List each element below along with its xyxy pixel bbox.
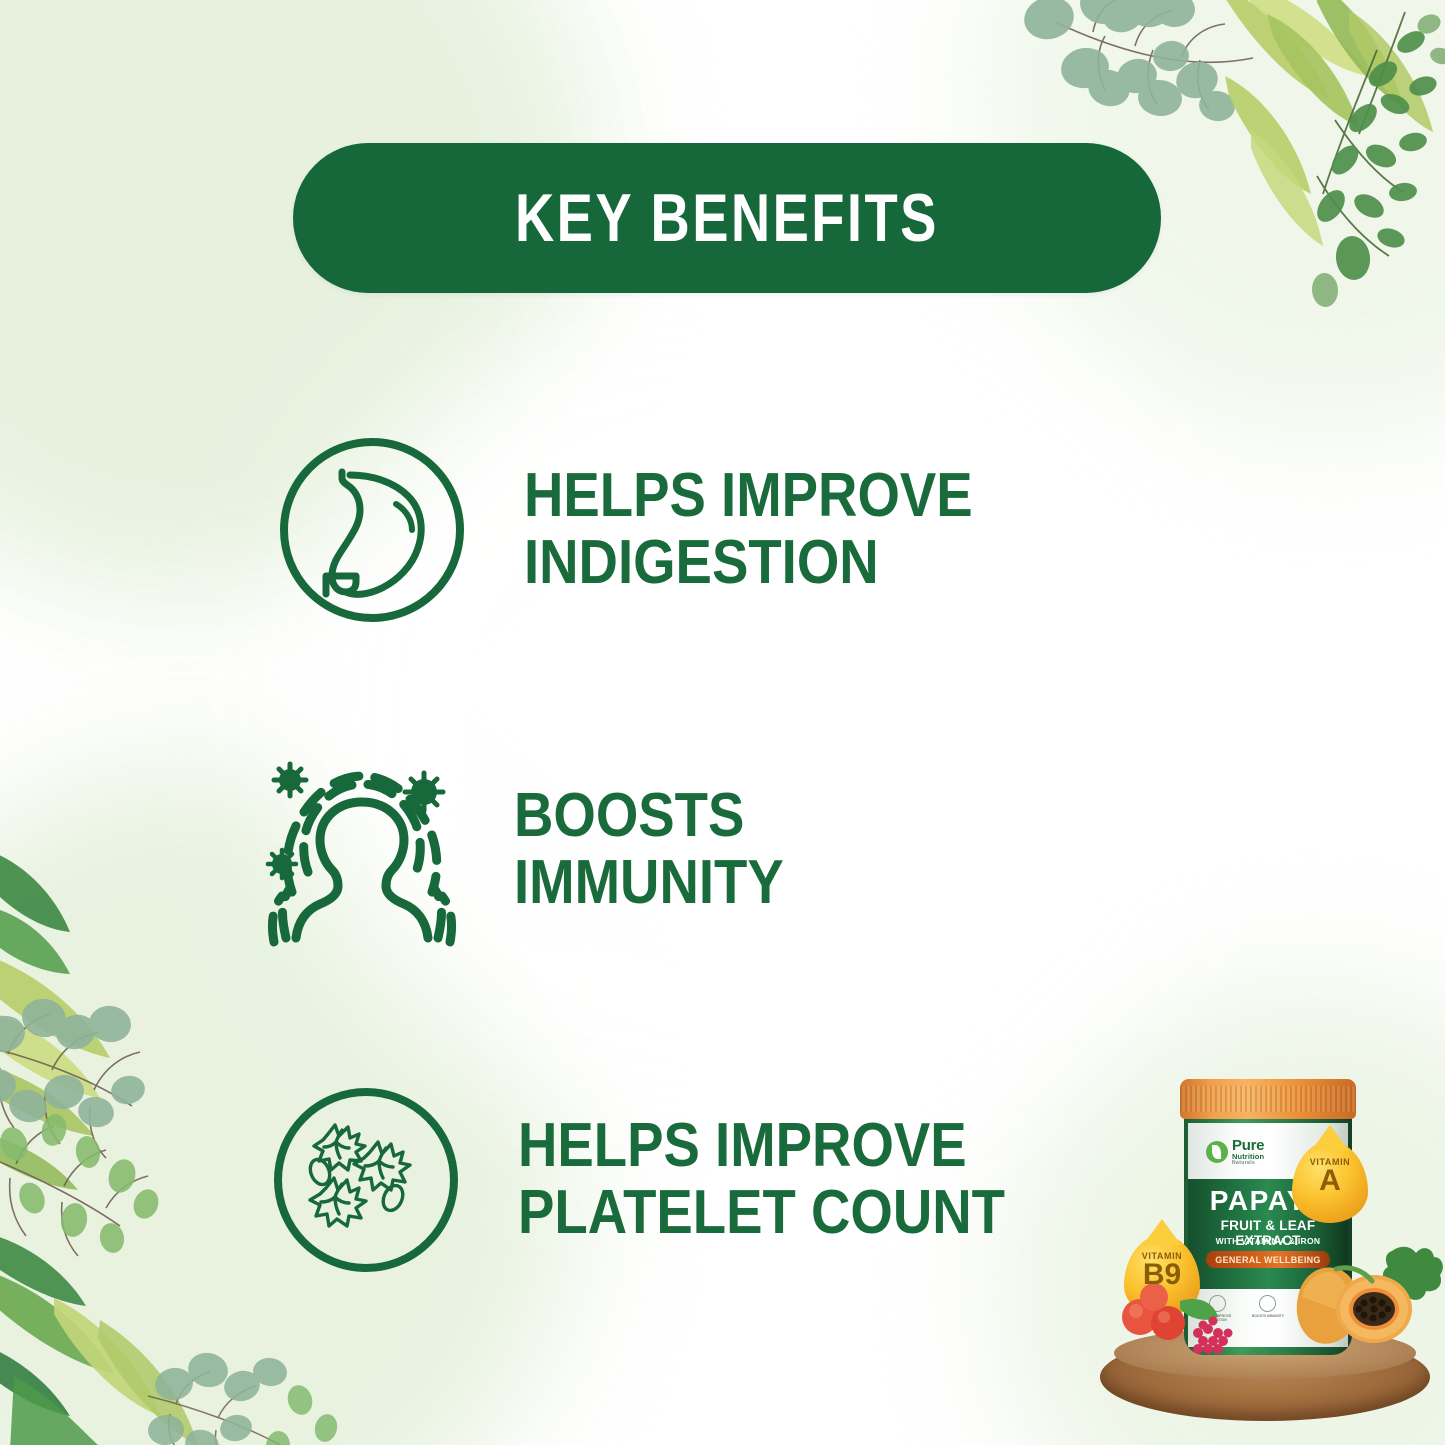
immunity-icon (1259, 1295, 1276, 1312)
platelet-cells-icon (266, 1080, 466, 1280)
pure-nutrition-leaf-icon (1206, 1141, 1228, 1163)
benefit-text-immunity: BOOSTS IMMUNITY (514, 783, 784, 917)
key-benefits-header: KEY BENEFITS (293, 143, 1161, 293)
benefit-line-1: BOOSTS (514, 783, 784, 850)
immunity-person-icon (262, 752, 462, 947)
benefit-line-2: PLATELET COUNT (518, 1180, 1005, 1247)
benefit-item-indigestion: HELPS IMPROVE INDIGESTION (272, 430, 1034, 630)
infographic-canvas: KEY BENEFITS HELPS IMPROVE INDIGESTION (0, 0, 1445, 1445)
papaya-fruit-and-leaf (1276, 1243, 1445, 1363)
benefit-item-platelet: HELPS IMPROVE PLATELET COUNT (266, 1080, 1071, 1280)
benefit-text-platelet: HELPS IMPROVE PLATELET COUNT (518, 1113, 1005, 1247)
vitamin-value: A (1292, 1167, 1368, 1196)
benefit-line-1: HELPS IMPROVE (518, 1113, 1005, 1180)
bottle-cap (1180, 1079, 1356, 1119)
background-wash-center (300, 300, 1200, 1140)
benefit-text-indigestion: HELPS IMPROVE INDIGESTION (524, 463, 973, 597)
page-title: KEY BENEFITS (515, 179, 939, 257)
brand-name-primary: Pure (1232, 1138, 1264, 1153)
benefit-line-1: HELPS IMPROVE (524, 463, 973, 530)
benefit-item-immunity: BOOSTS IMMUNITY (262, 752, 821, 947)
vitamin-value: B9 (1124, 1261, 1200, 1290)
benefit-line-2: IMMUNITY (514, 850, 784, 917)
brand-tagline: Naturals (1232, 1161, 1264, 1166)
stomach-icon (272, 430, 472, 630)
product-shot: Pure Nutrition Naturals PAPAYA FRUIT & L… (1080, 1075, 1445, 1445)
benefit-line-2: INDIGESTION (524, 530, 973, 597)
